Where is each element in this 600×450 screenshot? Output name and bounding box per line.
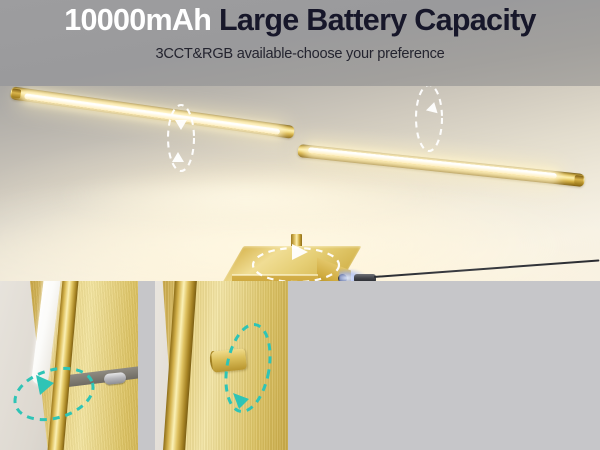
tube-rotation-right-icon [406, 86, 452, 156]
panel-b-knob [211, 348, 247, 372]
lamp-left-arm [10, 86, 295, 139]
hero-product-photo [0, 86, 600, 282]
right-arm-end-cap [574, 175, 584, 185]
lamp-right-arm [297, 144, 585, 187]
headline-rest: Large Battery Capacity [219, 3, 536, 37]
headline-highlight: 10000mAh [64, 3, 211, 37]
lamp-glow-core [12, 164, 480, 231]
mounting-base-edge [232, 274, 318, 276]
bottom-section: 360 Rotation Choose the angle at your de… [0, 281, 600, 450]
detail-panel-knob-rotation [155, 281, 288, 450]
detail-panel-tube-rotation [0, 281, 138, 450]
subheadline: 3CCT&RGB available-choose your preferenc… [0, 46, 600, 62]
right-arm-led-tube [308, 147, 557, 179]
left-arm-led-tube [24, 93, 280, 135]
product-marketing-image: 10000mAh Large Battery Capacity 3CCT&RGB… [0, 0, 600, 450]
left-arm-end-cap [11, 88, 21, 98]
page-title: 10000mAh Large Battery Capacity [0, 1, 600, 39]
header-banner: 10000mAh Large Battery Capacity 3CCT&RGB… [0, 0, 600, 90]
charging-cable [374, 259, 600, 278]
